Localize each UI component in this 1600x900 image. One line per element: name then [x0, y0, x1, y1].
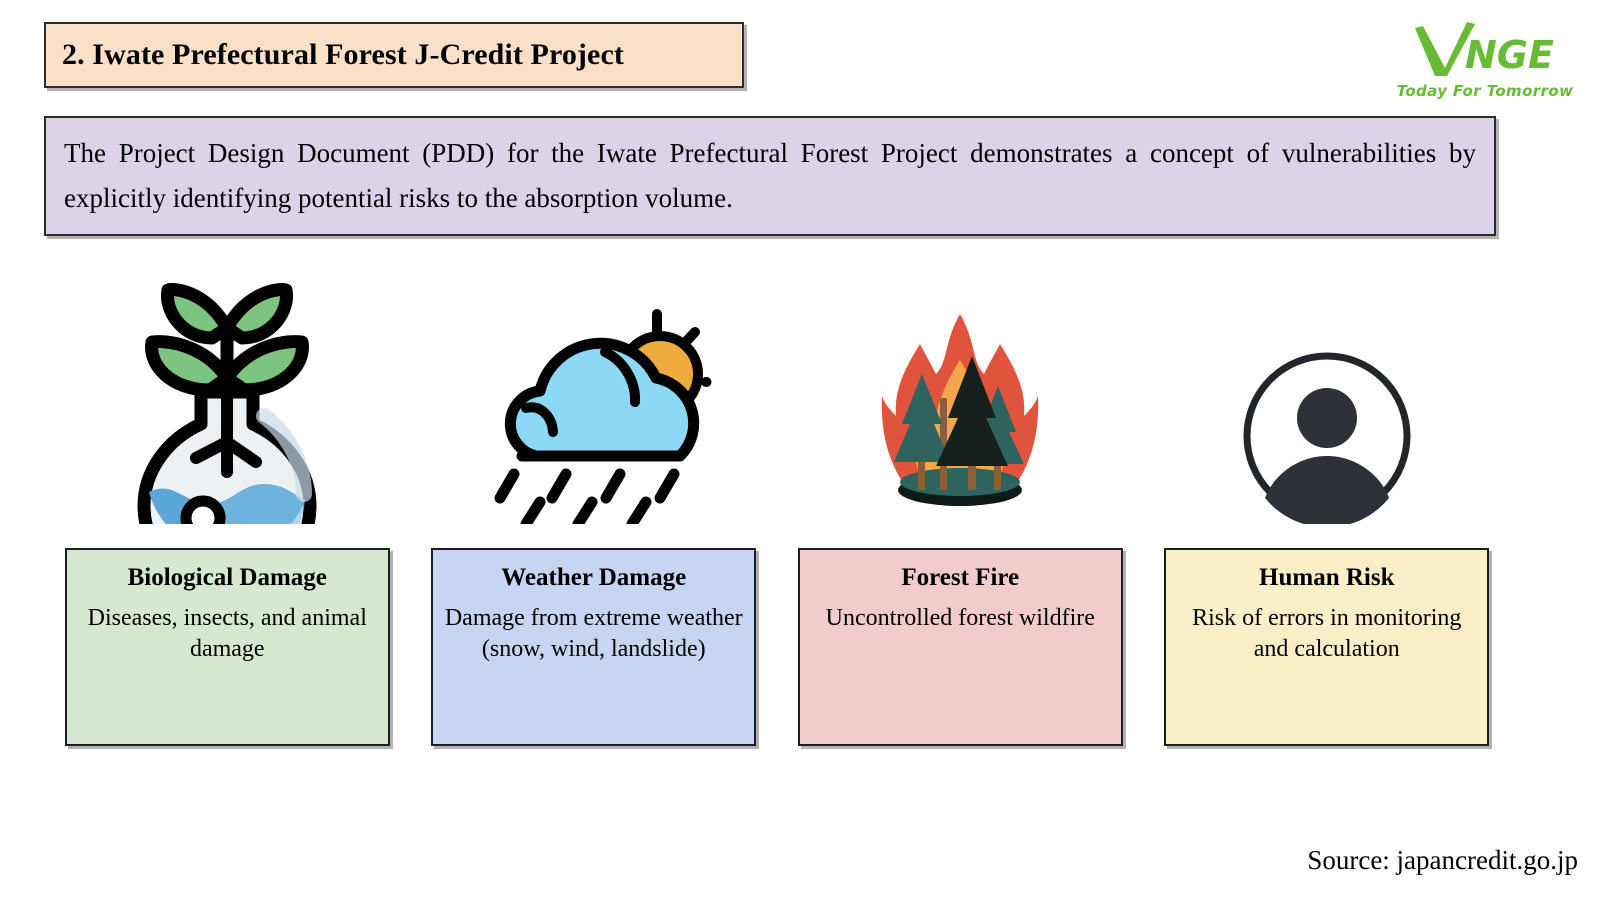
rain-cloud-sun-icon: [474, 296, 714, 524]
card-title: Biological Damage: [128, 564, 327, 593]
card-body: Uncontrolled forest wildfire: [826, 603, 1095, 635]
card-slot-2: Forest Fire Uncontrolled forest wildfire: [777, 548, 1144, 746]
card-slot-1: Weather Damage Damage from extreme weath…: [411, 548, 778, 746]
card-title: Weather Damage: [501, 564, 686, 593]
card-title: Human Risk: [1259, 564, 1394, 593]
svg-text:NGE: NGE: [1465, 33, 1554, 77]
slide-title-box: 2. Iwate Prefectural Forest J-Credit Pro…: [44, 22, 744, 88]
person-avatar-icon: [1239, 348, 1415, 524]
description-text: The Project Design Document (PDD) for th…: [46, 131, 1494, 222]
brand-logo: NGE Today For Tomorrow: [1390, 18, 1580, 100]
card-title: Forest Fire: [901, 564, 1019, 593]
card-slot-0: Biological Damage Diseases, insects, and…: [44, 548, 411, 746]
risk-card-weather-damage: Weather Damage Damage from extreme weath…: [431, 548, 756, 746]
card-body: Risk of errors in monitoring and calcula…: [1176, 603, 1477, 666]
card-body: Diseases, insects, and animal damage: [77, 603, 378, 666]
logo-tagline: Today For Tomorrow: [1390, 82, 1580, 100]
page-title: 2. Iwate Prefectural Forest J-Credit Pro…: [46, 38, 624, 72]
risk-card-human-risk: Human Risk Risk of errors in monitoring …: [1164, 548, 1489, 746]
icon-cell-forest-fire: [777, 258, 1144, 528]
icon-cell-weather-damage: [411, 258, 778, 528]
icon-cell-biological-damage: [44, 258, 411, 528]
risk-card-forest-fire: Forest Fire Uncontrolled forest wildfire: [798, 548, 1123, 746]
icon-cell-human-risk: [1144, 258, 1511, 528]
forest-fire-icon: [880, 312, 1040, 524]
icons-row: [44, 258, 1510, 528]
source-citation: Source: japancredit.go.jp: [1307, 845, 1578, 876]
cards-row: Biological Damage Diseases, insects, and…: [44, 548, 1510, 746]
card-slot-3: Human Risk Risk of errors in monitoring …: [1144, 548, 1511, 746]
sprout-flask-icon: [104, 266, 350, 524]
card-body: Damage from extreme weather (snow, wind,…: [443, 603, 744, 666]
description-box: The Project Design Document (PDD) for th…: [44, 116, 1496, 236]
risk-card-biological-damage: Biological Damage Diseases, insects, and…: [65, 548, 390, 746]
vnge-logo-icon: NGE: [1405, 18, 1565, 80]
